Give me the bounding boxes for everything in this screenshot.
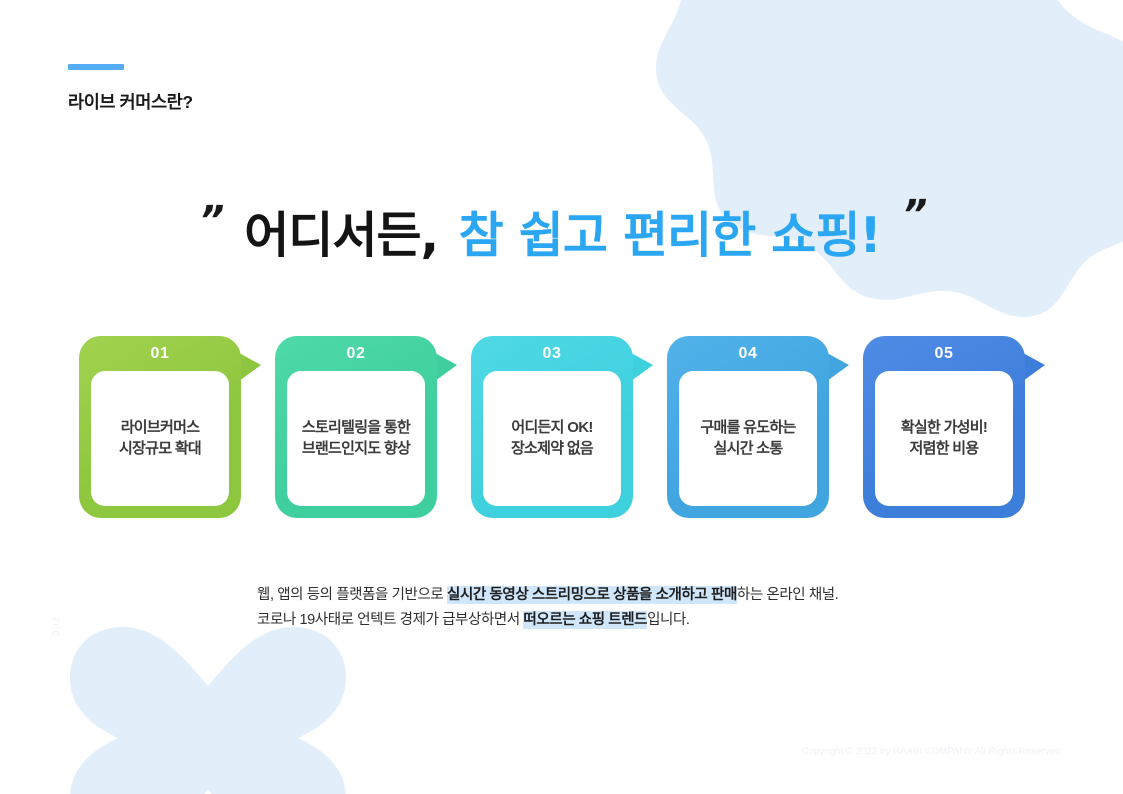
speech-bubble-tail-icon <box>631 353 653 381</box>
body-line-2-lead: 코로나 19사태로 언텍트 경제가 급부상하면서 <box>257 612 523 628</box>
card-number: 04 <box>667 345 829 363</box>
card-inner-panel: 확실한 가성비! 저렴한 비용 <box>875 371 1013 506</box>
body-line-2-tail: 입니다. <box>647 612 689 628</box>
quote-close-icon: ” <box>897 192 928 238</box>
feature-card[interactable]: 04 구매를 유도하는 실시간 소통 <box>667 336 829 518</box>
card-label: 스토리텔링을 통한 브랜드인지도 향상 <box>302 418 410 459</box>
body-line-1-tail: 하는 온라인 채널. <box>737 587 838 603</box>
slide-header: 라이브 커머스란? <box>68 64 193 114</box>
slide-canvas: 라이브 커머스란? ” 어디서든, 참 쉽고 편리한 쇼핑! ” 01 라이브커… <box>0 0 1123 794</box>
quote-open-icon: ” <box>194 198 225 244</box>
copyright-notice: Copyright © 2022 by HAABI COMPANY All Ri… <box>802 746 1063 757</box>
blob-top-right-shape <box>643 0 1123 324</box>
card-inner-panel: 어디든지 OK! 장소제약 없음 <box>483 371 621 506</box>
card-number: 03 <box>471 345 633 363</box>
page-number: 003 <box>51 616 62 636</box>
headline-text-blue: 참 쉽고 편리한 쇼핑! <box>459 196 881 267</box>
card-label: 라이브커머스 시장규모 확대 <box>119 418 201 459</box>
card-label: 구매를 유도하는 실시간 소통 <box>700 418 795 459</box>
headline-text-dark: 어디서든, <box>244 196 438 267</box>
body-line-2-highlight: 떠오르는 쇼핑 트렌드 <box>523 611 647 629</box>
feature-card[interactable]: 05 확실한 가성비! 저렴한 비용 <box>863 336 1025 518</box>
body-paragraph: 웹, 앱의 등의 플랫폼을 기반으로 실시간 동영상 스트리밍으로 상품을 소개… <box>257 583 838 633</box>
card-number: 02 <box>275 345 437 363</box>
speech-bubble-tail-icon <box>1023 353 1045 381</box>
page-title: 라이브 커머스란? <box>68 89 193 114</box>
speech-bubble-tail-icon <box>435 353 457 381</box>
card-number: 01 <box>79 345 241 363</box>
body-line-2: 코로나 19사태로 언텍트 경제가 급부상하면서 떠오르는 쇼핑 트렌드입니다. <box>257 608 838 633</box>
accent-bar <box>68 64 124 70</box>
feature-card[interactable]: 02 스토리텔링을 통한 브랜드인지도 향상 <box>275 336 437 518</box>
speech-bubble-tail-icon <box>827 353 849 381</box>
feature-card-row: 01 라이브커머스 시장규모 확대 02 스토리텔링을 통한 브랜드인지도 향상… <box>79 336 1047 518</box>
card-inner-panel: 구매를 유도하는 실시간 소통 <box>679 371 817 506</box>
body-line-1: 웹, 앱의 등의 플랫폼을 기반으로 실시간 동영상 스트리밍으로 상품을 소개… <box>257 583 838 608</box>
feature-card[interactable]: 01 라이브커머스 시장규모 확대 <box>79 336 241 518</box>
card-inner-panel: 라이브커머스 시장규모 확대 <box>91 371 229 506</box>
card-label: 어디든지 OK! 장소제약 없음 <box>511 418 593 459</box>
card-label: 확실한 가성비! 저렴한 비용 <box>901 418 987 459</box>
feature-card[interactable]: 03 어디든지 OK! 장소제약 없음 <box>471 336 633 518</box>
card-number: 05 <box>863 345 1025 363</box>
body-line-1-lead: 웹, 앱의 등의 플랫폼을 기반으로 <box>257 587 447 603</box>
headline-quote: ” 어디서든, 참 쉽고 편리한 쇼핑! ” <box>0 196 1123 267</box>
speech-bubble-tail-icon <box>239 353 261 381</box>
body-line-1-highlight: 실시간 동영상 스트리밍으로 상품을 소개하고 판매 <box>447 586 737 604</box>
blob-bottom-left-shape <box>58 626 358 794</box>
card-inner-panel: 스토리텔링을 통한 브랜드인지도 향상 <box>287 371 425 506</box>
